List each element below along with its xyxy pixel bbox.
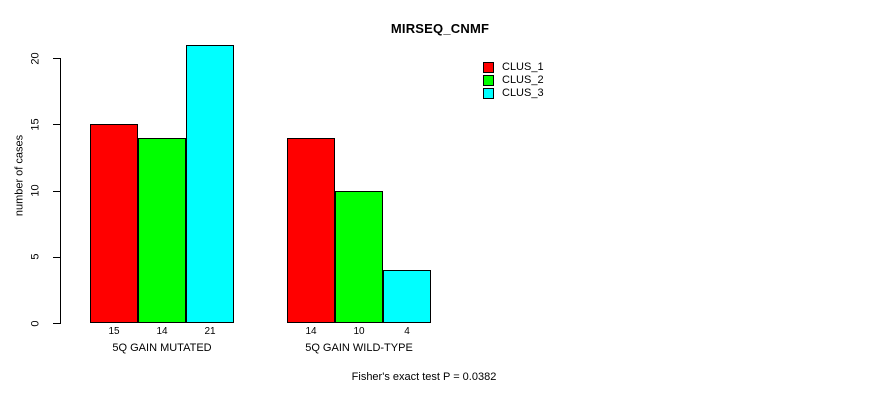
chart-canvas: MIRSEQ_CNMF 05101520 number of cases 151… [0,0,890,400]
bar-value-label: 21 [186,326,234,337]
legend-color-swatch [483,62,494,73]
bar-value-label: 15 [90,326,138,337]
group-label: 5Q GAIN WILD-TYPE [227,342,491,354]
bar-value-label: 10 [335,326,383,337]
legend-item-label: CLUS_3 [502,88,544,99]
legend-item: CLUS_2 [483,74,544,87]
legend-item-label: CLUS_1 [502,62,544,73]
bar-value-label: 4 [383,326,431,337]
bar [90,124,138,323]
bar [287,138,335,324]
legend-color-swatch [483,88,494,99]
legend-item-label: CLUS_2 [502,75,544,86]
bar [186,45,234,323]
chart-legend: CLUS_1CLUS_2CLUS_3 [483,61,544,100]
statistical-test-annotation: Fisher's exact test P = 0.0382 [0,371,869,383]
bar-value-label: 14 [138,326,186,337]
bar-value-label: 14 [287,326,335,337]
bar [335,191,383,324]
bar [138,138,186,324]
legend-color-swatch [483,75,494,86]
bar [383,270,431,323]
legend-item: CLUS_3 [483,87,544,100]
legend-item: CLUS_1 [483,61,544,74]
bars-layer [0,0,890,400]
